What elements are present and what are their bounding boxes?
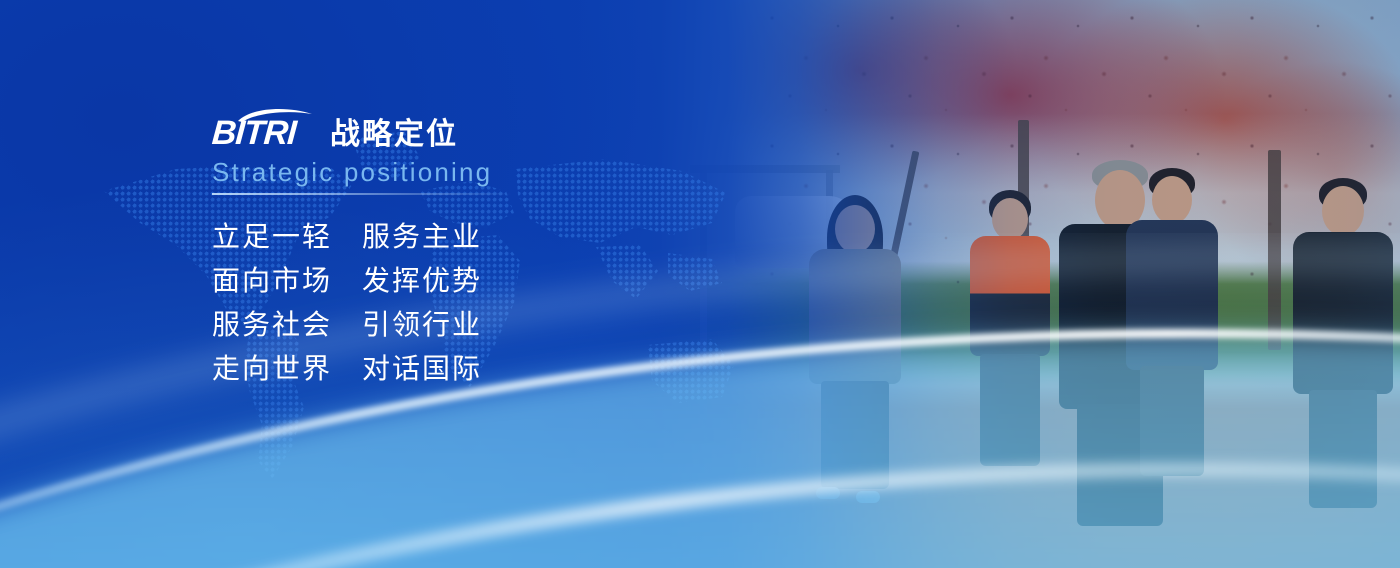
bitri-wordmark: BITRI [211, 116, 297, 150]
slogan-line: 立足一轻 服务主业 [212, 215, 632, 259]
bitri-logo: BITRI [212, 106, 316, 150]
slogan-list: 立足一轻 服务主业 面向市场 发挥优势 服务社会 引领行业 走向世界 对话国际 [212, 215, 632, 391]
title-divider [212, 193, 512, 195]
slogan-line: 面向市场 发挥优势 [212, 259, 632, 303]
banner-subtitle-en: Strategic positioning [212, 157, 632, 187]
slogan-line: 服务社会 引领行业 [212, 303, 632, 347]
banner-text-block: BITRI 战略定位 Strategic positioning 立足一轻 服务… [212, 104, 632, 391]
brand-lockup: BITRI 战略定位 [212, 104, 632, 150]
slogan-line: 走向世界 对话国际 [212, 347, 632, 391]
strategic-positioning-banner: BITRI 战略定位 Strategic positioning 立足一轻 服务… [0, 0, 1400, 568]
banner-title-cn: 战略定位 [330, 118, 458, 152]
